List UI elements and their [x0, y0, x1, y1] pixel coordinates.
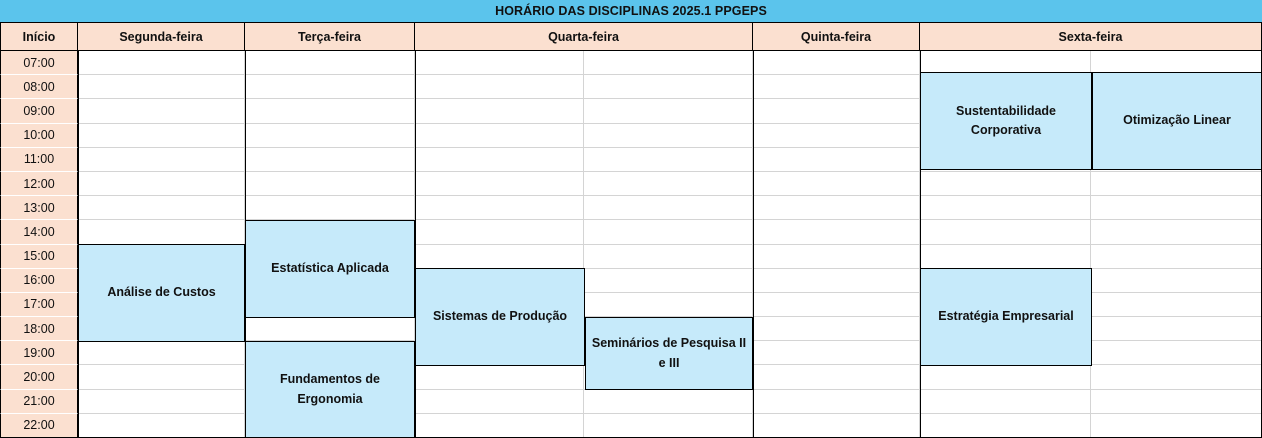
- schedule-title-bar: HORÁRIO DAS DISCIPLINAS 2025.1 PPGEPS: [0, 0, 1262, 23]
- column-separator-quinta: [753, 51, 754, 438]
- grid-cell-quarta-1000[interactable]: [584, 124, 753, 148]
- grid-cell-sexta-1800[interactable]: [1091, 317, 1262, 341]
- column-header-label: Início: [23, 30, 56, 44]
- time-label: 13:00: [23, 201, 54, 215]
- time-cell-1400: 14:00: [0, 220, 78, 244]
- grid-cell-quarta-0800[interactable]: [584, 75, 753, 99]
- column-header-terca: Terça-feira: [245, 23, 415, 51]
- grid-cell-segunda-1000[interactable]: [78, 124, 245, 148]
- course-label: Sistemas de Produção: [419, 307, 581, 326]
- column-header-label: Sexta-feira: [1059, 30, 1123, 44]
- grid-cell-quinta-1600[interactable]: [753, 269, 920, 293]
- grid-cell-sexta-1200[interactable]: [920, 172, 1091, 196]
- time-cell-0800: 08:00: [0, 75, 78, 99]
- course-label: Sustentabilidade Corporativa: [924, 102, 1088, 141]
- grid-cell-sexta-1200[interactable]: [1091, 172, 1262, 196]
- column-header-quarta: Quarta-feira: [415, 23, 753, 51]
- grid-cell-quinta-1400[interactable]: [753, 220, 920, 244]
- column-header-label: Quarta-feira: [548, 30, 619, 44]
- course-block-estatistica-aplicada[interactable]: Estatística Aplicada: [245, 220, 415, 318]
- time-cell-1000: 10:00: [0, 124, 78, 148]
- grid-cell-segunda-1400[interactable]: [78, 220, 245, 244]
- column-header-quinta: Quinta-feira: [753, 23, 920, 51]
- course-label: Estatística Aplicada: [249, 259, 411, 278]
- column-header-inicio: Início: [0, 23, 78, 51]
- time-cell-1300: 13:00: [0, 196, 78, 220]
- time-cell-0900: 09:00: [0, 99, 78, 123]
- grid-cell-quarta-1100[interactable]: [584, 148, 753, 172]
- course-label: Análise de Custos: [82, 283, 241, 302]
- grid-cell-sexta-1500[interactable]: [1091, 245, 1262, 269]
- grid-cell-quarta-0800[interactable]: [415, 75, 584, 99]
- grid-cell-sexta-1500[interactable]: [920, 245, 1091, 269]
- course-block-analise-de-custos[interactable]: Análise de Custos: [78, 244, 245, 342]
- course-label: Otimização Linear: [1096, 111, 1258, 130]
- time-label: 20:00: [23, 370, 54, 384]
- schedule-table: HORÁRIO DAS DISCIPLINAS 2025.1 PPGEPS In…: [0, 0, 1262, 438]
- grid-cell-segunda-1900[interactable]: [78, 341, 245, 365]
- time-label: 12:00: [23, 177, 54, 191]
- grid-cell-quinta-0800[interactable]: [753, 75, 920, 99]
- time-label: 10:00: [23, 128, 54, 142]
- grid-cell-sexta-1400[interactable]: [920, 220, 1091, 244]
- time-label: 11:00: [24, 152, 54, 166]
- grid-cell-segunda-2100[interactable]: [78, 390, 245, 414]
- time-cell-1800: 18:00: [0, 317, 78, 341]
- grid-cell-quinta-2100[interactable]: [753, 390, 920, 414]
- page-title: HORÁRIO DAS DISCIPLINAS 2025.1 PPGEPS: [495, 4, 767, 18]
- grid-cell-quinta-2200[interactable]: [753, 414, 920, 438]
- grid-cell-quarta-2100[interactable]: [584, 390, 753, 414]
- grid-cell-quarta-0900[interactable]: [415, 99, 584, 123]
- course-block-fundamentos-de-ergonomia[interactable]: Fundamentos de Ergonomia: [245, 341, 415, 438]
- grid-cell-quarta-1300[interactable]: [584, 196, 753, 220]
- grid-cell-quinta-0700[interactable]: [753, 51, 920, 75]
- course-block-otimizacao-linear[interactable]: Otimização Linear: [1092, 72, 1262, 170]
- time-label: 19:00: [23, 346, 54, 360]
- grid-cell-terca-0800[interactable]: [245, 75, 415, 99]
- grid-cell-quinta-2000[interactable]: [753, 365, 920, 389]
- grid-cell-terca-1300[interactable]: [245, 196, 415, 220]
- grid-cell-segunda-2200[interactable]: [78, 414, 245, 438]
- course-block-estrategia-empresarial[interactable]: Estratégia Empresarial: [920, 268, 1092, 366]
- time-cell-1900: 19:00: [0, 341, 78, 365]
- grid-cell-terca-0700[interactable]: [245, 51, 415, 75]
- column-header-sexta: Sexta-feira: [920, 23, 1262, 51]
- grid-cell-sexta-2100[interactable]: [1091, 390, 1262, 414]
- course-label: Seminários de Pesquisa II e III: [589, 334, 749, 373]
- time-cell-1200: 12:00: [0, 172, 78, 196]
- grid-cell-segunda-1200[interactable]: [78, 172, 245, 196]
- grid-cell-terca-1000[interactable]: [245, 124, 415, 148]
- course-block-sustentabilidade-corporativa[interactable]: Sustentabilidade Corporativa: [920, 72, 1092, 170]
- grid-cell-sexta-1300[interactable]: [1091, 196, 1262, 220]
- time-cell-0700: 07:00: [0, 51, 78, 75]
- time-cell-1100: 11:00: [0, 148, 78, 172]
- time-cell-1500: 15:00: [0, 245, 78, 269]
- course-label: Fundamentos de Ergonomia: [249, 370, 411, 409]
- grid-cell-terca-1100[interactable]: [245, 148, 415, 172]
- grid-cell-segunda-2000[interactable]: [78, 365, 245, 389]
- grid-cell-quarta-1500[interactable]: [584, 245, 753, 269]
- grid-cell-quarta-1200[interactable]: [584, 172, 753, 196]
- grid-cell-quarta-2000[interactable]: [415, 365, 584, 389]
- grid-cell-quarta-0700[interactable]: [584, 51, 753, 75]
- time-label: 14:00: [23, 225, 54, 239]
- grid-cell-quarta-1500[interactable]: [415, 245, 584, 269]
- time-label: 21:00: [23, 394, 54, 408]
- grid-cell-quarta-0900[interactable]: [584, 99, 753, 123]
- time-label: 07:00: [23, 56, 54, 70]
- course-block-sistemas-de-producao[interactable]: Sistemas de Produção: [415, 268, 585, 366]
- grid-cell-segunda-1300[interactable]: [78, 196, 245, 220]
- grid-cell-sexta-2200[interactable]: [1091, 414, 1262, 438]
- course-block-seminarios-de-pesquisa-ii-e-iii[interactable]: Seminários de Pesquisa II e III: [585, 317, 753, 390]
- grid-cell-quinta-1200[interactable]: [753, 172, 920, 196]
- column-header-label: Segunda-feira: [119, 30, 202, 44]
- grid-cell-quinta-1500[interactable]: [753, 245, 920, 269]
- grid-cell-sexta-1400[interactable]: [1091, 220, 1262, 244]
- time-label: 17:00: [23, 297, 54, 311]
- grid-cell-quarta-0700[interactable]: [415, 51, 584, 75]
- grid-cell-terca-0900[interactable]: [245, 99, 415, 123]
- grid-cell-sexta-2000[interactable]: [1091, 365, 1262, 389]
- grid-cell-quarta-1600[interactable]: [584, 269, 753, 293]
- grid-cell-segunda-0700[interactable]: [78, 51, 245, 75]
- grid-cell-quinta-1700[interactable]: [753, 293, 920, 317]
- grid-cell-sexta-2100[interactable]: [920, 390, 1091, 414]
- grid-cell-quinta-0900[interactable]: [753, 99, 920, 123]
- time-cell-1600: 16:00: [0, 269, 78, 293]
- grid-cell-segunda-0800[interactable]: [78, 75, 245, 99]
- grid-cell-quarta-1400[interactable]: [584, 220, 753, 244]
- time-label: 18:00: [23, 322, 54, 336]
- grid-cell-sexta-1700[interactable]: [1091, 293, 1262, 317]
- time-label: 15:00: [23, 249, 54, 263]
- time-label: 09:00: [23, 104, 54, 118]
- grid-cell-quarta-1400[interactable]: [415, 220, 584, 244]
- time-label: 08:00: [23, 80, 54, 94]
- schedule-grid: 07:0008:0009:0010:0011:0012:0013:0014:00…: [0, 51, 1262, 438]
- grid-cell-sexta-1900[interactable]: [1091, 341, 1262, 365]
- grid-cell-quarta-2200[interactable]: [584, 414, 753, 438]
- grid-cell-quarta-2200[interactable]: [415, 414, 584, 438]
- column-header-label: Quinta-feira: [801, 30, 871, 44]
- grid-cell-sexta-1600[interactable]: [1091, 269, 1262, 293]
- time-cell-1700: 17:00: [0, 293, 78, 317]
- time-label: 22:00: [23, 418, 54, 432]
- grid-cell-quarta-1100[interactable]: [415, 148, 584, 172]
- grid-cell-segunda-0900[interactable]: [78, 99, 245, 123]
- grid-cell-segunda-1100[interactable]: [78, 148, 245, 172]
- day-header-row: InícioSegunda-feiraTerça-feiraQuarta-fei…: [0, 23, 1262, 51]
- grid-cell-quinta-1800[interactable]: [753, 317, 920, 341]
- time-cell-2000: 20:00: [0, 365, 78, 389]
- grid-cell-quinta-1900[interactable]: [753, 341, 920, 365]
- grid-cell-sexta-1300[interactable]: [920, 196, 1091, 220]
- grid-cell-quarta-1700[interactable]: [584, 293, 753, 317]
- grid-cell-quarta-2100[interactable]: [415, 390, 584, 414]
- grid-cell-sexta-2000[interactable]: [920, 365, 1091, 389]
- time-cell-2100: 21:00: [0, 390, 78, 414]
- grid-cell-quinta-1100[interactable]: [753, 148, 920, 172]
- column-header-segunda: Segunda-feira: [78, 23, 245, 51]
- time-cell-2200: 22:00: [0, 414, 78, 438]
- grid-cell-terca-1800[interactable]: [245, 317, 415, 341]
- grid-cell-quinta-1000[interactable]: [753, 124, 920, 148]
- grid-cell-quinta-1300[interactable]: [753, 196, 920, 220]
- grid-cell-quarta-1200[interactable]: [415, 172, 584, 196]
- grid-cell-quarta-1000[interactable]: [415, 124, 584, 148]
- grid-cell-quarta-1300[interactable]: [415, 196, 584, 220]
- grid-cell-sexta-2200[interactable]: [920, 414, 1091, 438]
- column-header-label: Terça-feira: [298, 30, 361, 44]
- grid-cell-terca-1200[interactable]: [245, 172, 415, 196]
- column-separator-quarta: [415, 51, 416, 438]
- course-label: Estratégia Empresarial: [924, 307, 1088, 326]
- time-label: 16:00: [23, 273, 54, 287]
